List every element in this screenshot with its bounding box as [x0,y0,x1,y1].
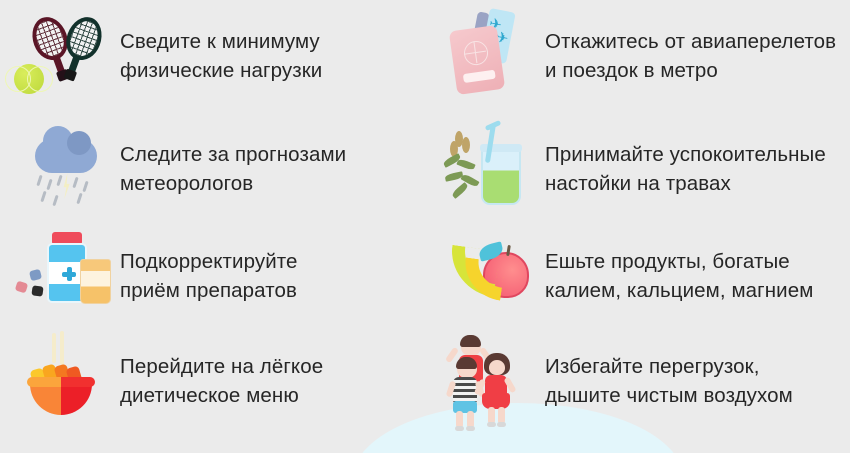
cloud-shape [35,139,97,173]
tip-text: Перейдите на лёгкое диетическое меню [120,352,323,410]
tennis-ball-shape [14,64,44,94]
pill-jar-shape [80,259,111,304]
steam-shape [60,331,64,365]
globe-emblem-icon [462,40,489,67]
tennis-rackets-icon [10,6,120,106]
passport-tickets-icon: ✈ ✈ [435,6,545,106]
tip-item-take-herbal-sedatives: Принимайте успокоительные настойки на тр… [435,119,826,219]
tip-text: Следите за прогнозами метеорологов [120,140,346,198]
tips-grid: Сведите к минимуму физические нагрузки ✈… [0,0,850,453]
tip-text: Сведите к минимуму физические нагрузки [120,27,322,85]
tip-item-avoid-flights-and-metro: ✈ ✈ Откажитесь от авиаперелетов и поездо… [435,6,836,106]
passport-shape [449,25,505,95]
infographic-canvas: Сведите к минимуму физические нагрузки ✈… [0,0,850,453]
tip-line-2: настойки на травах [545,169,826,198]
tip-line-1: Откажитесь от авиаперелетов [545,27,836,56]
tip-line-1: Сведите к минимуму [120,27,322,56]
tip-line-1: Избегайте перегрузок, [545,352,793,381]
medicine-bottles-icon [10,226,120,326]
tip-line-2: приём препаратов [120,276,298,305]
tip-item-switch-to-light-diet: Перейдите на лёгкое диетическое меню [10,331,323,431]
tip-text: Откажитесь от авиаперелетов и поездок в … [545,27,836,85]
tip-item-adjust-medication: Подкорректируйте приём препаратов [10,226,298,326]
tip-line-1: Перейдите на лёгкое [120,352,323,381]
tip-text: Подкорректируйте приём препаратов [120,247,298,305]
tip-line-2: физические нагрузки [120,56,322,85]
tip-item-watch-weather-forecast: Следите за прогнозами метеорологов [10,119,346,219]
tip-line-1: Принимайте успокоительные [545,140,826,169]
tip-item-minimize-physical-activity: Сведите к минимуму физические нагрузки [10,6,322,106]
pill-shape [31,285,43,296]
pill-shape [15,281,29,294]
tip-line-2: и поездок в метро [545,56,836,85]
tip-line-1: Следите за прогнозами [120,140,346,169]
tip-text: Избегайте перегрузок, дышите чистым возд… [545,352,793,410]
pill-shape [29,269,42,281]
banana-apple-icon [435,226,545,326]
tip-line-2: диетическое меню [120,381,323,410]
rain-cloud-icon [10,119,120,219]
children-icon [435,331,545,431]
medical-cross-icon [62,267,76,281]
tip-line-2: калием, кальцием, магнием [545,276,813,305]
tip-line-1: Подкорректируйте [120,247,298,276]
tip-text: Ешьте продукты, богатые калием, кальцием… [545,247,813,305]
food-bowl-icon [10,331,120,431]
tip-item-eat-potassium-rich-food: Ешьте продукты, богатые калием, кальцием… [435,226,813,326]
tip-line-2: дышите чистым воздухом [545,381,793,410]
tip-item-avoid-overload-breathe-fresh-air: Избегайте перегрузок, дышите чистым возд… [435,331,793,431]
bowl-shape [30,383,92,415]
herbs-jar-icon [435,119,545,219]
tip-line-2: метеорологов [120,169,346,198]
tip-text: Принимайте успокоительные настойки на тр… [545,140,826,198]
tip-line-1: Ешьте продукты, богатые [545,247,813,276]
steam-shape [52,333,56,363]
